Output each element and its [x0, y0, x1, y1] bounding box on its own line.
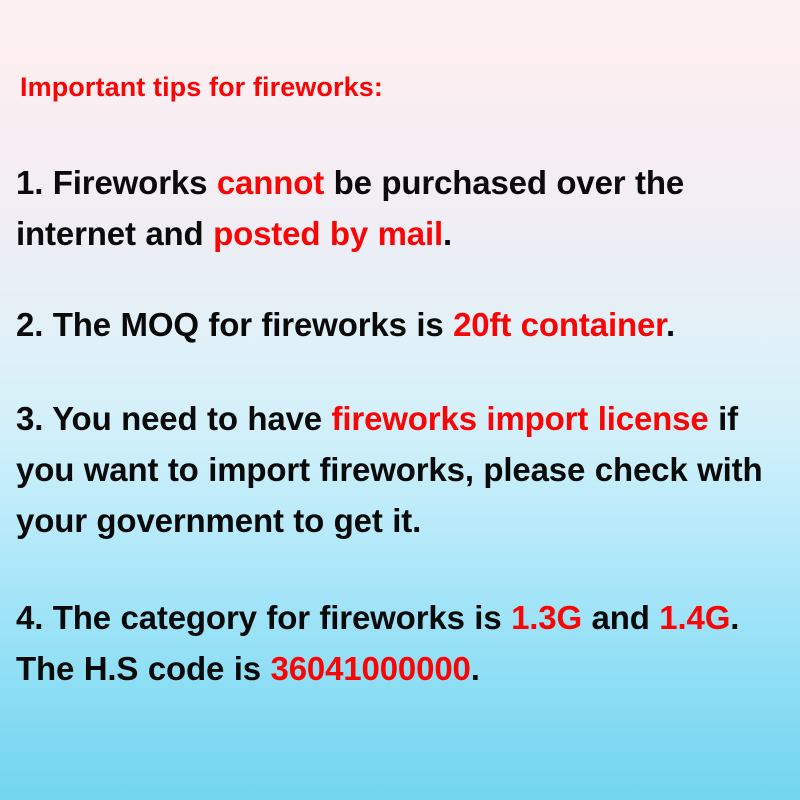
tip-1-text-part-3: .	[443, 215, 452, 252]
fireworks-tips-card: Important tips for fireworks: 1. Firewor…	[0, 0, 800, 800]
page-title: Important tips for fireworks:	[20, 70, 383, 104]
tip-1-highlight-2: posted by mail	[213, 215, 443, 252]
tip-2-text-part-2: .	[666, 306, 675, 343]
tip-1-highlight-1: cannot	[217, 164, 324, 201]
tip-4-highlight-2: 1.4G	[659, 599, 730, 636]
tip-2-highlight-1: 20ft container	[453, 306, 666, 343]
tip-2-text-part: 2. The MOQ for fireworks is	[16, 306, 453, 343]
tip-4-highlight-3: 36041000000	[271, 650, 471, 687]
tip-item-1: 1. Fireworks cannot be purchased over th…	[16, 157, 784, 259]
tip-3-text-part: 3. You need to have	[16, 400, 332, 437]
tip-4-text-part-4: .	[471, 650, 480, 687]
tip-3-highlight-1: fireworks import license	[332, 400, 709, 437]
tip-item-3: 3. You need to have fireworks import lic…	[16, 393, 784, 546]
tip-item-2: 2. The MOQ for fireworks is 20ft contain…	[16, 299, 784, 350]
tip-4-text-part: 4. The category for fireworks is	[16, 599, 511, 636]
tip-item-4: 4. The category for fireworks is 1.3G an…	[16, 592, 784, 694]
tip-1-text-part: 1. Fireworks	[16, 164, 217, 201]
tip-4-text-part-2: and	[582, 599, 659, 636]
tip-4-highlight-1: 1.3G	[511, 599, 582, 636]
